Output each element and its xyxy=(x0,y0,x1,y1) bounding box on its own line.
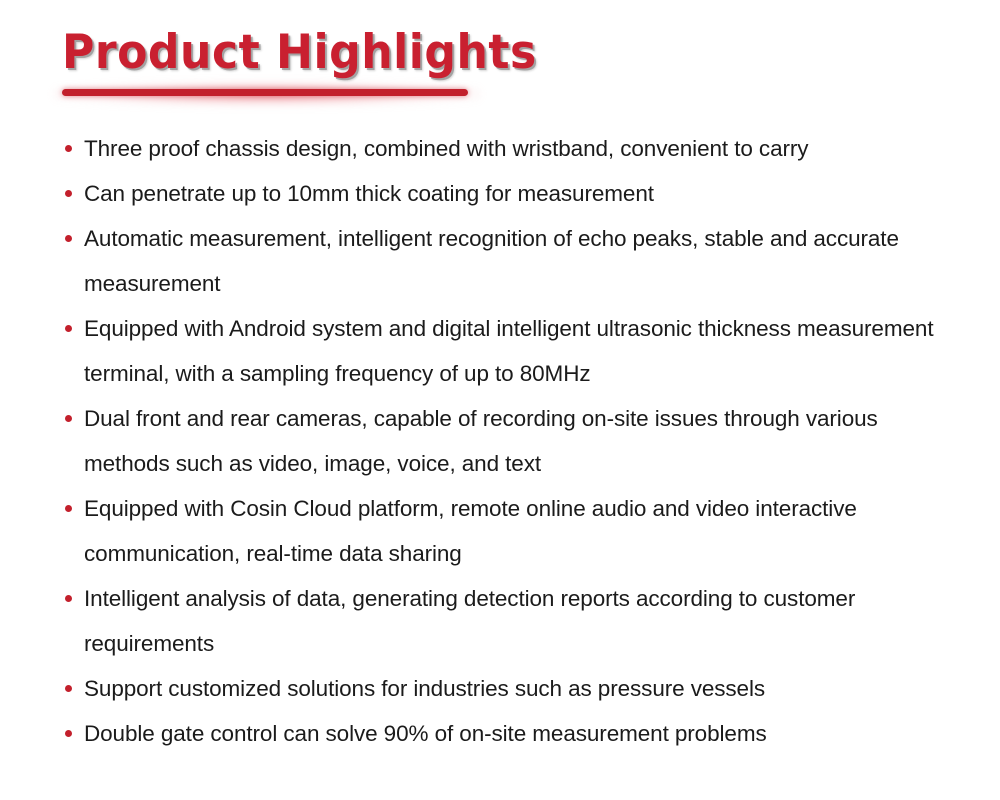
bullet-dot-icon xyxy=(65,595,72,602)
list-item: Dual front and rear cameras, capable of … xyxy=(62,396,962,486)
highlights-list: Three proof chassis design, combined wit… xyxy=(62,126,962,756)
bullet-dot-icon xyxy=(65,145,72,152)
list-item-label: Can penetrate up to 10mm thick coating f… xyxy=(84,171,962,216)
list-item: Equipped with Android system and digital… xyxy=(62,306,962,396)
list-item-label: Double gate control can solve 90% of on-… xyxy=(84,711,962,756)
list-item-label: Dual front and rear cameras, capable of … xyxy=(84,396,962,486)
bullet-dot-icon xyxy=(65,685,72,692)
list-item-label: Support customized solutions for industr… xyxy=(84,666,962,711)
list-item: Equipped with Cosin Cloud platform, remo… xyxy=(62,486,962,576)
list-item-label: Equipped with Android system and digital… xyxy=(84,306,962,396)
bullet-dot-icon xyxy=(65,415,72,422)
list-item: Can penetrate up to 10mm thick coating f… xyxy=(62,171,962,216)
bullet-dot-icon xyxy=(65,235,72,242)
list-item: Intelligent analysis of data, generating… xyxy=(62,576,962,666)
list-item-label: Three proof chassis design, combined wit… xyxy=(84,126,962,171)
list-item-label: Automatic measurement, intelligent recog… xyxy=(84,216,962,306)
page-title: Product Highlights xyxy=(62,26,537,80)
bullet-dot-icon xyxy=(65,190,72,197)
list-item: Three proof chassis design, combined wit… xyxy=(62,126,962,171)
title-underline-bar xyxy=(62,89,468,96)
list-item: Automatic measurement, intelligent recog… xyxy=(62,216,962,306)
list-item-label: Intelligent analysis of data, generating… xyxy=(84,576,962,666)
bullet-dot-icon xyxy=(65,325,72,332)
list-item-label: Equipped with Cosin Cloud platform, remo… xyxy=(84,486,962,576)
product-highlights-slide: Product Highlights Three proof chassis d… xyxy=(0,0,1000,800)
title-block: Product Highlights xyxy=(62,26,582,106)
bullet-dot-icon xyxy=(65,505,72,512)
bullet-dot-icon xyxy=(65,730,72,737)
list-item: Double gate control can solve 90% of on-… xyxy=(62,711,962,756)
list-item: Support customized solutions for industr… xyxy=(62,666,962,711)
